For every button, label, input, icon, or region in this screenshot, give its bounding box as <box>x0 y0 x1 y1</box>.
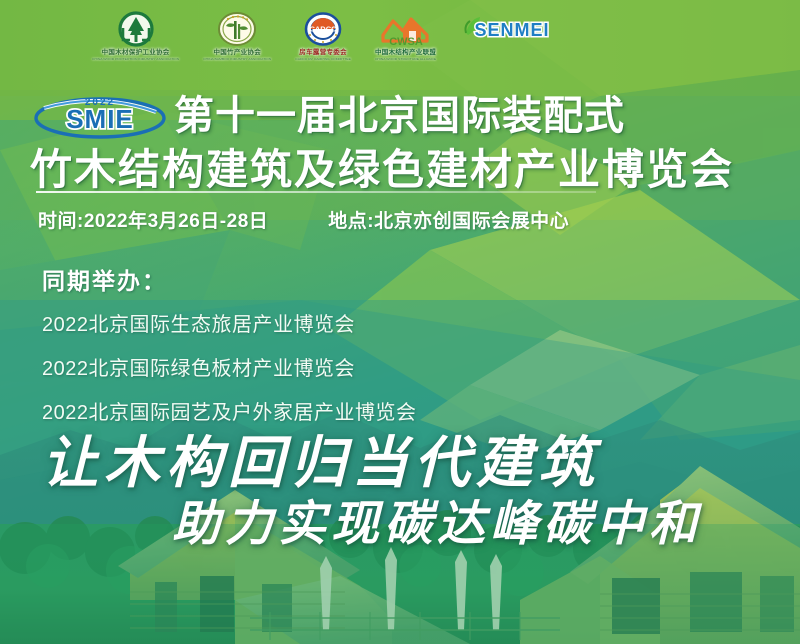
event-meta: 时间:2022年3月26日-28日 地点:北京亦创国际会展中心 <box>38 206 758 233</box>
sponsor-logo-strip: 中国木材保护工业协会 CHINA WOOD PROTECTION INDUSTR… <box>0 8 800 70</box>
logo-china-wood-protection: 中国木材保护工业协会 CHINA WOOD PROTECTION INDUSTR… <box>92 11 179 67</box>
title-block: 2022 SMIE 第十一届北京国际装配式 竹木结构建筑及绿色建材产业博览会 <box>0 90 800 192</box>
logo-caption: 房车露营专委会 <box>299 50 347 57</box>
leaf-sprout-icon: SENMEI <box>460 11 556 45</box>
exhibition-poster: 中国木材保护工业协会 CHINA WOOD PROTECTION INDUSTR… <box>0 0 800 644</box>
logo-subcaption: CADCC RV CAMPING COMMITTEE <box>295 58 351 61</box>
concurrent-item: 2022北京国际绿色板材产业博览会 <box>42 352 642 381</box>
logo-caption: 中国竹产业协会 <box>213 50 261 57</box>
svg-text:CADCC: CADCC <box>310 25 338 34</box>
house-roof-icon: CWSA <box>377 11 435 49</box>
concurrent-heading: 同期举办： <box>42 262 642 296</box>
logo-subcaption: CHINA WOOD PROTECTION INDUSTRY ASSOCIATI… <box>92 58 179 61</box>
logo-cadcc-rv-camping: CADCC 房车露营专委会 CADCC RV CAMPING COMMITTEE <box>295 11 351 67</box>
tree-shield-icon <box>113 11 159 49</box>
logo-bamboo-association: 中国竹产业协会 CHINA BAMBOO INDUSTRY ASSOCIATIO… <box>203 11 271 67</box>
smie-wordmark: SMIE <box>66 104 134 134</box>
title-line-1: 第十一届北京国际装配式 <box>174 95 625 137</box>
svg-text:CWSA: CWSA <box>389 36 423 48</box>
cadcc-badge-icon: CADCC <box>300 11 346 49</box>
concurrent-item: 2022北京国际生态旅居产业博览会 <box>42 308 642 337</box>
concurrent-events: 同期举办： 2022北京国际生态旅居产业博览会 2022北京国际绿色板材产业博览… <box>42 262 642 440</box>
logo-senmei: SENMEI <box>460 11 556 67</box>
slogan-line-2: 助力实现碳达峰碳中和 <box>172 484 702 554</box>
logo-caption: 中国木结构产业联盟 <box>375 50 436 57</box>
logo-subcaption: CHINA WOOD STRUCTURE ALLIANCE <box>375 58 436 61</box>
title-divider <box>36 191 596 193</box>
logo-cwsa-wood-structure: CWSA 中国木结构产业联盟 CHINA WOOD STRUCTURE ALLI… <box>375 11 436 67</box>
bamboo-seal-icon <box>214 11 260 49</box>
event-date: 时间:2022年3月26日-28日 <box>38 206 268 233</box>
event-venue: 地点:北京亦创国际会展中心 <box>328 206 569 233</box>
logo-subcaption: CHINA BAMBOO INDUSTRY ASSOCIATION <box>203 58 271 61</box>
title-line-2: 竹木结构建筑及绿色建材产业博览会 <box>0 148 800 192</box>
logo-caption: 中国木材保护工业协会 <box>102 50 170 57</box>
smie-logo: 2022 SMIE <box>30 92 170 140</box>
svg-text:SENMEI: SENMEI <box>475 20 550 40</box>
